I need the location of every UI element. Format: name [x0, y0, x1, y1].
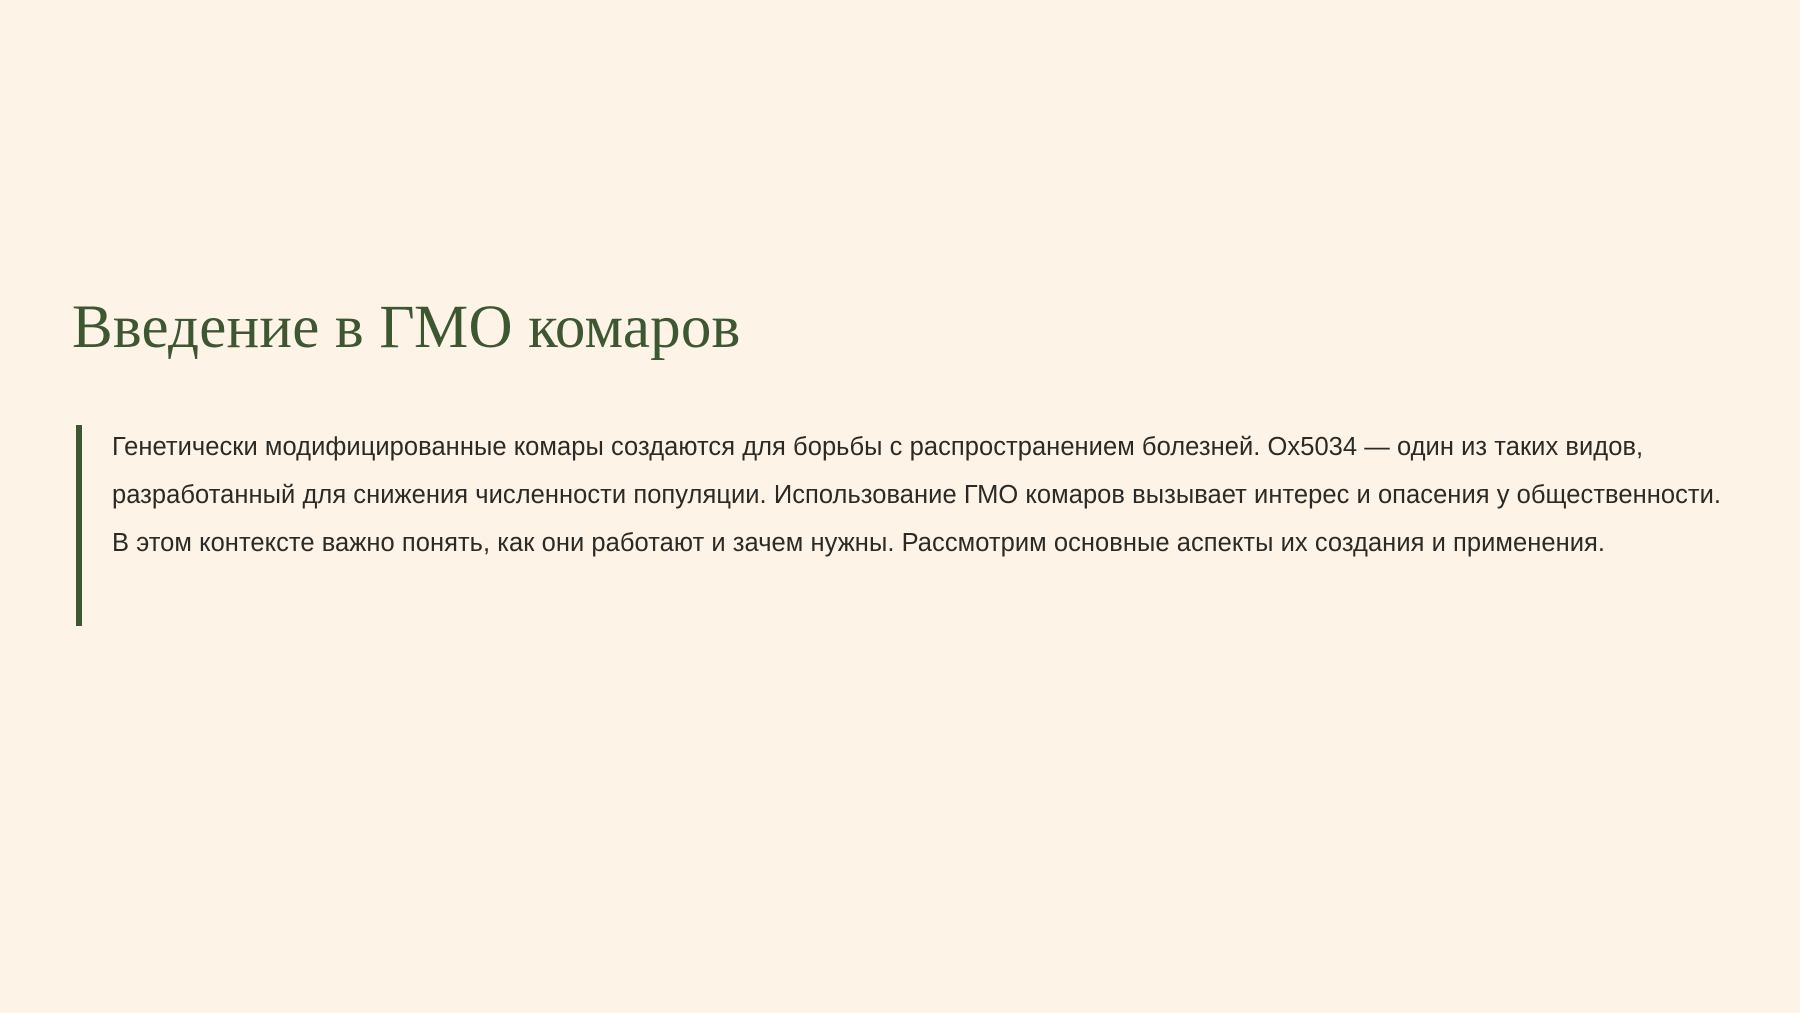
body-quote-block: Генетически модифицированные комары созд… [72, 423, 1732, 567]
accent-bar [76, 425, 82, 626]
slide-canvas: Введение в ГМО комаров Генетически модиф… [0, 0, 1800, 1013]
page-title: Введение в ГМО комаров [72, 296, 1732, 361]
slide-content-block: Введение в ГМО комаров Генетически модиф… [72, 296, 1732, 567]
body-paragraph: Генетически модифицированные комары созд… [112, 423, 1722, 567]
